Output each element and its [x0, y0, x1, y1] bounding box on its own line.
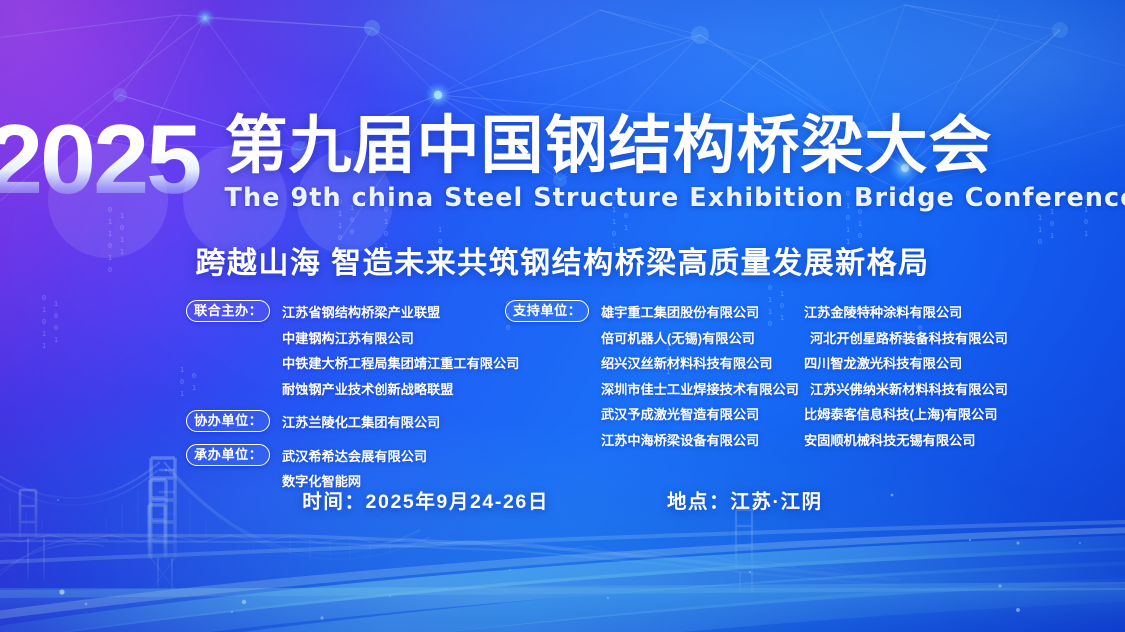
sponsor-column-supporters-left: 支持单位： 雄宇重工集团股份有限公司 倍可机器人(无锡)有限公司 绍兴汉丝新材料…	[505, 300, 805, 453]
joint-host-group: 联合主办： 江苏省钢结构桥梁产业联盟 中建钢构江苏有限公司 中铁建大桥工程局集团…	[186, 300, 486, 402]
co-organizer-item: 江苏兰陵化工集团有限公司	[282, 410, 440, 436]
co-organizer-group: 协办单位： 江苏兰陵化工集团有限公司	[186, 410, 486, 436]
joint-host-item: 耐蚀钢产业技术创新战略联盟	[282, 377, 453, 403]
undertaker-row-1: 承办单位： 武汉希希达会展有限公司	[186, 444, 486, 470]
supporter-row-5: 武汉予成激光智造有限公司	[505, 402, 805, 428]
banner-content: 2025 第九届中国钢结构桥梁大会 The 9th china Steel St…	[0, 0, 1125, 632]
co-organizer-row-1: 协办单位： 江苏兰陵化工集团有限公司	[186, 410, 486, 436]
supporter-row-6: 江苏中海桥梁设备有限公司	[505, 428, 805, 454]
supporter-item: 比姆泰客信息科技(上海)有限公司	[804, 402, 1054, 428]
undertaker-badge: 承办单位：	[186, 444, 270, 466]
joint-host-row-4: 耐蚀钢产业技术创新战略联盟	[186, 377, 486, 403]
joint-host-badge: 联合主办：	[186, 300, 270, 322]
conference-slogan: 跨越山海 智造未来共筑钢结构桥梁高质量发展新格局	[0, 238, 1125, 282]
supporter-item: 安固顺机械科技无锡有限公司	[804, 428, 1054, 454]
year-2025: 2025	[0, 114, 213, 204]
supporter-row-3: 绍兴汉丝新材料科技有限公司	[505, 351, 805, 377]
supporter-item: 武汉予成激光智造有限公司	[601, 402, 759, 428]
event-date: 时间：2025年9月24-26日	[302, 485, 549, 514]
joint-host-row-1: 联合主办： 江苏省钢结构桥梁产业联盟	[186, 300, 486, 326]
page-title: 第九届中国钢结构桥梁大会	[225, 114, 1125, 180]
conference-banner: 01011 1001 011010 1011 101 01 0110 100 0…	[0, 0, 1125, 632]
sponsor-column-supporters-right: 江苏金陵特种涂料有限公司 河北开创星路桥装备科技有限公司 四川智龙激光科技有限公…	[804, 300, 1054, 453]
supporter-row-4: 深圳市佳士工业焊接技术有限公司	[505, 377, 805, 403]
event-meta: 时间：2025年9月24-26日 地点：江苏·江阴	[0, 485, 1125, 514]
title-block: 2025 第九届中国钢结构桥梁大会 The 9th china Steel St…	[0, 112, 1125, 222]
joint-host-item: 中建钢构江苏有限公司	[282, 326, 414, 352]
sponsor-column-hosts: 联合主办： 江苏省钢结构桥梁产业联盟 中建钢构江苏有限公司 中铁建大桥工程局集团…	[186, 300, 486, 495]
joint-host-row-2: 中建钢构江苏有限公司	[186, 326, 486, 352]
event-location: 地点：江苏·江阴	[667, 485, 823, 514]
supporters-badge: 支持单位：	[505, 300, 589, 322]
supporter-row-2: 倍可机器人(无锡)有限公司	[505, 326, 805, 352]
joint-host-item: 江苏省钢结构桥梁产业联盟	[282, 300, 440, 326]
supporter-item: 四川智龙激光科技有限公司	[804, 351, 1054, 377]
supporter-item: 绍兴汉丝新材料科技有限公司	[601, 351, 772, 377]
supporter-item: 江苏兴佛纳米新材料科技有限公司	[804, 377, 1054, 403]
co-organizer-badge: 协办单位：	[186, 410, 270, 432]
joint-host-item: 中铁建大桥工程局集团靖江重工有限公司	[282, 351, 519, 377]
supporter-item: 倍可机器人(无锡)有限公司	[601, 326, 755, 352]
supporter-item: 江苏金陵特种涂料有限公司	[804, 300, 1054, 326]
supporter-item: 雄宇重工集团股份有限公司	[601, 300, 759, 326]
page-subtitle-en: The 9th china Steel Structure Exhibition…	[225, 184, 1125, 212]
joint-host-row-3: 中铁建大桥工程局集团靖江重工有限公司	[186, 351, 486, 377]
supporter-item: 河北开创星路桥装备科技有限公司	[804, 326, 1054, 352]
supporter-item: 江苏中海桥梁设备有限公司	[601, 428, 759, 454]
undertaker-item: 武汉希希达会展有限公司	[282, 444, 427, 470]
supporter-item: 深圳市佳士工业焊接技术有限公司	[601, 377, 799, 403]
supporter-row-1: 支持单位： 雄宇重工集团股份有限公司	[505, 300, 805, 326]
